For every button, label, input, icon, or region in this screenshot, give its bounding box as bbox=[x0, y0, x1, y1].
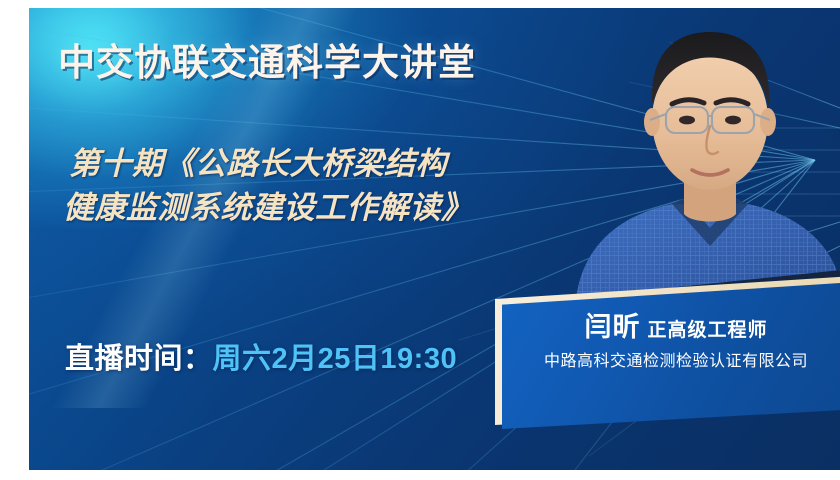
poster-banner: 中交协联交通科学大讲堂 第十期《公路长大桥梁结构 健康监测系统建设工作解读》 直… bbox=[29, 8, 840, 470]
live-time-value: 周六2月25日19:30 bbox=[213, 343, 458, 375]
poster-main-title: 中交协联交通科学大讲堂 bbox=[58, 32, 476, 86]
poster-root: 中交协联交通科学大讲堂 第十期《公路长大桥梁结构 健康监测系统建设工作解读》 直… bbox=[0, 0, 840, 480]
speaker-identity-row: 闫昕正高级工程师 bbox=[505, 305, 840, 344]
subtitle-line-1: 第十期《公路长大桥梁结构 bbox=[69, 142, 473, 186]
live-time-row: 直播时间：周六2月25日19:30 bbox=[65, 335, 457, 377]
name-card-content: 闫昕正高级工程师 中路高科交通检测检验认证有限公司 bbox=[505, 281, 840, 429]
speaker-organization: 中路高科交通检测检验认证有限公司 bbox=[505, 347, 840, 371]
subtitle-line-2: 健康监测系统建设工作解读》 bbox=[63, 186, 473, 230]
speaker-name: 闫昕 bbox=[584, 312, 640, 342]
live-time-label: 直播时间： bbox=[65, 343, 213, 375]
poster-subtitle: 第十期《公路长大桥梁结构 健康监测系统建设工作解读》 bbox=[69, 142, 473, 230]
speaker-role: 正高级工程师 bbox=[647, 320, 767, 341]
speaker-name-card: 闫昕正高级工程师 中路高科交通检测检验认证有限公司 bbox=[495, 255, 840, 440]
